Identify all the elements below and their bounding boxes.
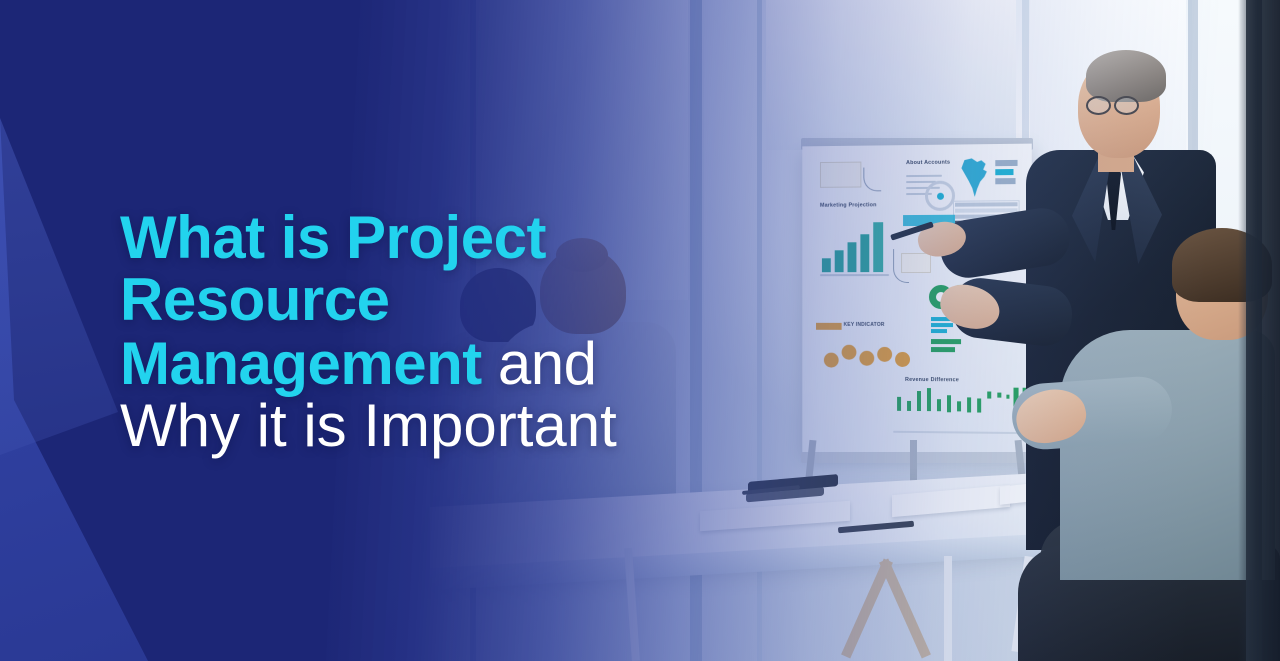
headline-line-2: Resource bbox=[120, 269, 810, 331]
headline-accent-2: Resource bbox=[120, 266, 389, 333]
headline-plain-4: Why it is Important bbox=[120, 392, 617, 459]
hero-banner: Marketing Projection About Accounts bbox=[0, 0, 1280, 661]
headline-line-3: Management and bbox=[120, 333, 810, 395]
headline-plain-3: and bbox=[482, 330, 597, 397]
headline-accent-3: Management bbox=[120, 330, 482, 397]
headline-line-1: What is Project bbox=[120, 207, 810, 269]
headline-accent-1: What is Project bbox=[120, 204, 546, 271]
page-title: What is Project Resource Management and … bbox=[120, 207, 810, 456]
headline-line-4: Why it is Important bbox=[120, 395, 810, 457]
